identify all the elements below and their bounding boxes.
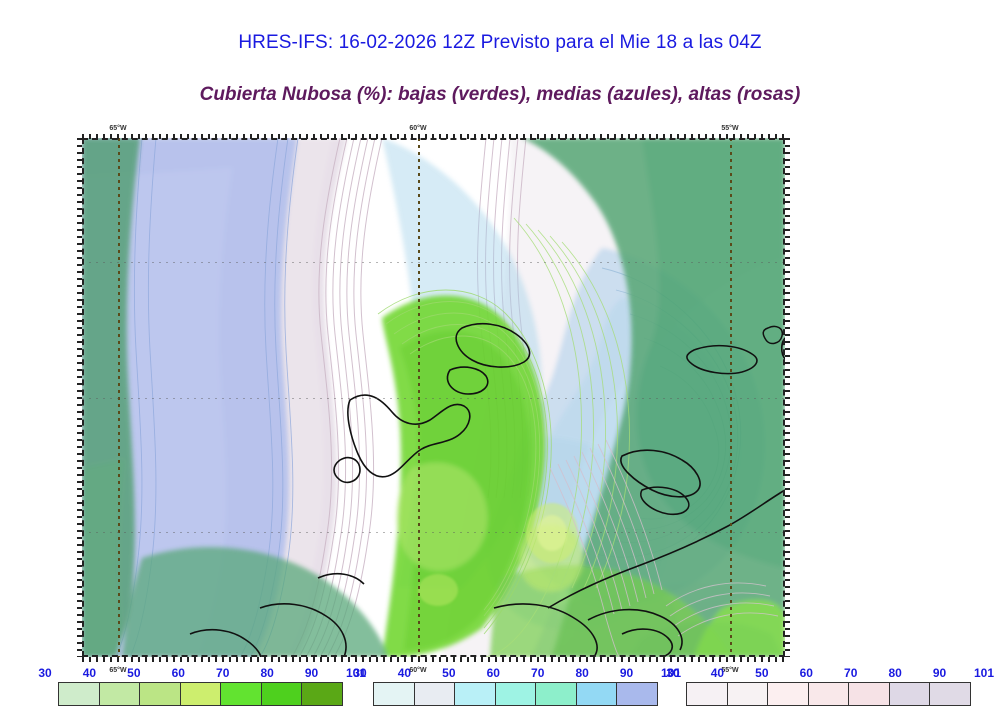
colorbar-swatch	[262, 683, 303, 705]
colorbar-swatch	[302, 683, 342, 705]
colorbar-tick-label: 70	[216, 666, 229, 680]
lon-label-top-65w: 65°W	[109, 125, 126, 132]
colorbar-swatch	[768, 683, 809, 705]
page-title: HRES-IFS: 16-02-2026 12Z Previsto para e…	[0, 32, 1000, 54]
colorbar-swatch	[536, 683, 577, 705]
colorbar-tick-label: 40	[83, 666, 96, 680]
colorbar-tick-label: 40	[711, 666, 724, 680]
colorbar-swatch	[100, 683, 141, 705]
colorbar-mid-cloud[interactable]	[373, 682, 658, 706]
colorbar-high-cloud[interactable]	[686, 682, 971, 706]
colorbar-low-cloud[interactable]	[58, 682, 343, 706]
colorbar-swatch	[374, 683, 415, 705]
colorbar-swatch	[140, 683, 181, 705]
colorbar-swatch	[728, 683, 769, 705]
colorbar-swatch	[221, 683, 262, 705]
lon-label-bottom-60w: 60°W	[409, 667, 426, 674]
forecast-map-panel[interactable]	[82, 138, 785, 657]
colorbar-swatch	[617, 683, 657, 705]
colorbar-swatch	[809, 683, 850, 705]
colorbar-swatch	[890, 683, 931, 705]
colorbar-swatch	[59, 683, 100, 705]
colorbar-tick-label: 70	[844, 666, 857, 680]
colorbar-tick-label: 60	[172, 666, 185, 680]
colorbar-tick-label: 90	[933, 666, 946, 680]
colorbar-tick-label: 80	[888, 666, 901, 680]
map-tick-band-right	[785, 138, 790, 657]
colorbar-swatch	[849, 683, 890, 705]
page-subtitle: Cubierta Nubosa (%): bajas (verdes), med…	[0, 84, 1000, 106]
colorbar-tick-label: 60	[487, 666, 500, 680]
colorbar-tick-label: 90	[305, 666, 318, 680]
lon-label-top-60w: 60°W	[409, 125, 426, 132]
colorbar-tick-label: 50	[127, 666, 140, 680]
colorbar-swatch	[930, 683, 970, 705]
colorbar-swatch	[577, 683, 618, 705]
lon-label-bottom-65w: 65°W	[109, 667, 126, 674]
colorbar-tick-label: 30	[666, 666, 679, 680]
colorbar-tick-label: 50	[442, 666, 455, 680]
colorbar-tick-label: 80	[260, 666, 273, 680]
colorbar-tick-label: 90	[620, 666, 633, 680]
cloud-cover-field	[82, 138, 785, 657]
colorbar-tick-label: 80	[575, 666, 588, 680]
colorbar-tick-label: 30	[38, 666, 51, 680]
colorbar-tick-label: 40	[398, 666, 411, 680]
colorbar-tick-label: 60	[800, 666, 813, 680]
colorbar-swatch	[415, 683, 456, 705]
colorbar-tick-label: 50	[755, 666, 768, 680]
colorbar-swatch	[455, 683, 496, 705]
lon-label-top-55w: 55°W	[721, 125, 738, 132]
colorbar-tick-label: 70	[531, 666, 544, 680]
colorbar-swatch	[687, 683, 728, 705]
colorbar-swatch	[496, 683, 537, 705]
map-tick-band-bottom	[82, 657, 785, 662]
colorbar-tick-label: 101	[974, 666, 994, 680]
colorbar-tick-label: 30	[353, 666, 366, 680]
colorbar-swatch	[181, 683, 222, 705]
forecast-map-page: HRES-IFS: 16-02-2026 12Z Previsto para e…	[0, 0, 1000, 707]
